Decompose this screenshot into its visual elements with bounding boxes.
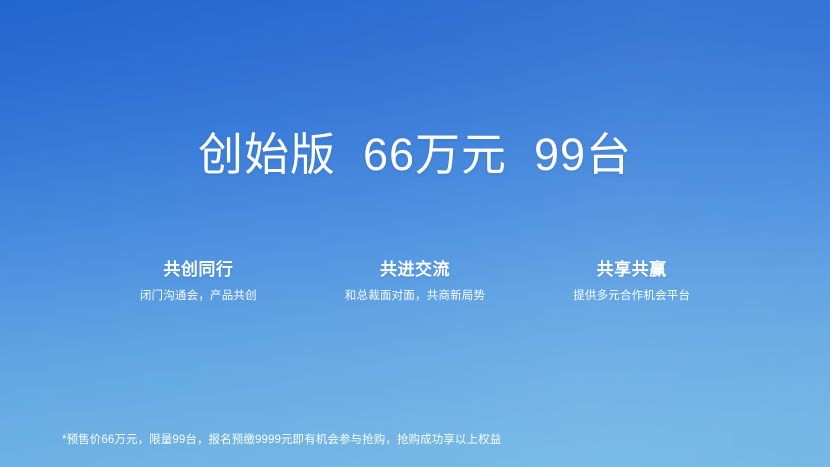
benefit-column-1: 共创同行 闭门沟通会，产品共创 [90,258,307,304]
benefit-title: 共进交流 [313,258,518,281]
benefit-description: 闭门沟通会，产品共创 [96,288,301,304]
benefit-description: 和总裁面对面，共商新局势 [313,288,518,304]
benefit-description: 提供多元合作机会平台 [529,288,734,304]
benefit-title: 共享共赢 [529,258,734,281]
benefit-title: 共创同行 [96,258,301,281]
benefit-column-2: 共进交流 和总裁面对面，共商新局势 [307,258,524,304]
footnote-disclaimer: *预售价66万元，限量99台，报名预缴9999元即有机会参与抢购，抢购成功享以上… [62,432,501,448]
benefits-row: 共创同行 闭门沟通会，产品共创 共进交流 和总裁面对面，共商新局势 共享共赢 提… [90,258,740,304]
headline-text: 创始版 66万元 99台 [0,126,830,184]
benefit-column-3: 共享共赢 提供多元合作机会平台 [523,258,740,304]
presentation-slide: 创始版 66万元 99台 共创同行 闭门沟通会，产品共创 共进交流 和总裁面对面… [0,0,830,467]
